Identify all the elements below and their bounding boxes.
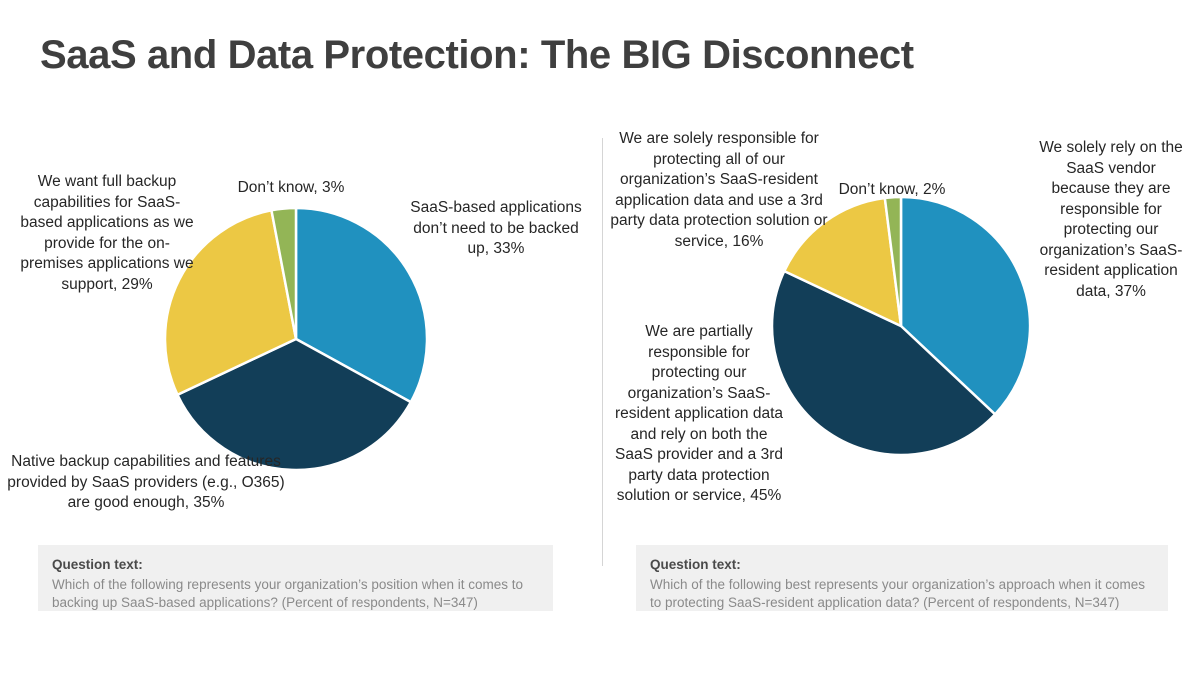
right-label-yellow: We are solely responsible for protecting…	[608, 129, 830, 252]
right-question-label: Question text:	[650, 556, 1154, 575]
right-label-green: Don’t know, 2%	[812, 180, 972, 201]
right-panel: We are solely responsible for protecting…	[0, 0, 1200, 676]
right-label-blue: We solely rely on the SaaS vendor becaus…	[1035, 138, 1187, 302]
slide-root: SaaS and Data Protection: The BIG Discon…	[0, 0, 1200, 676]
right-label-navy: We are partially responsible for protect…	[613, 322, 785, 507]
right-question-box: Question text: Which of the following be…	[636, 545, 1168, 611]
right-question-body: Which of the following best represents y…	[650, 576, 1154, 613]
